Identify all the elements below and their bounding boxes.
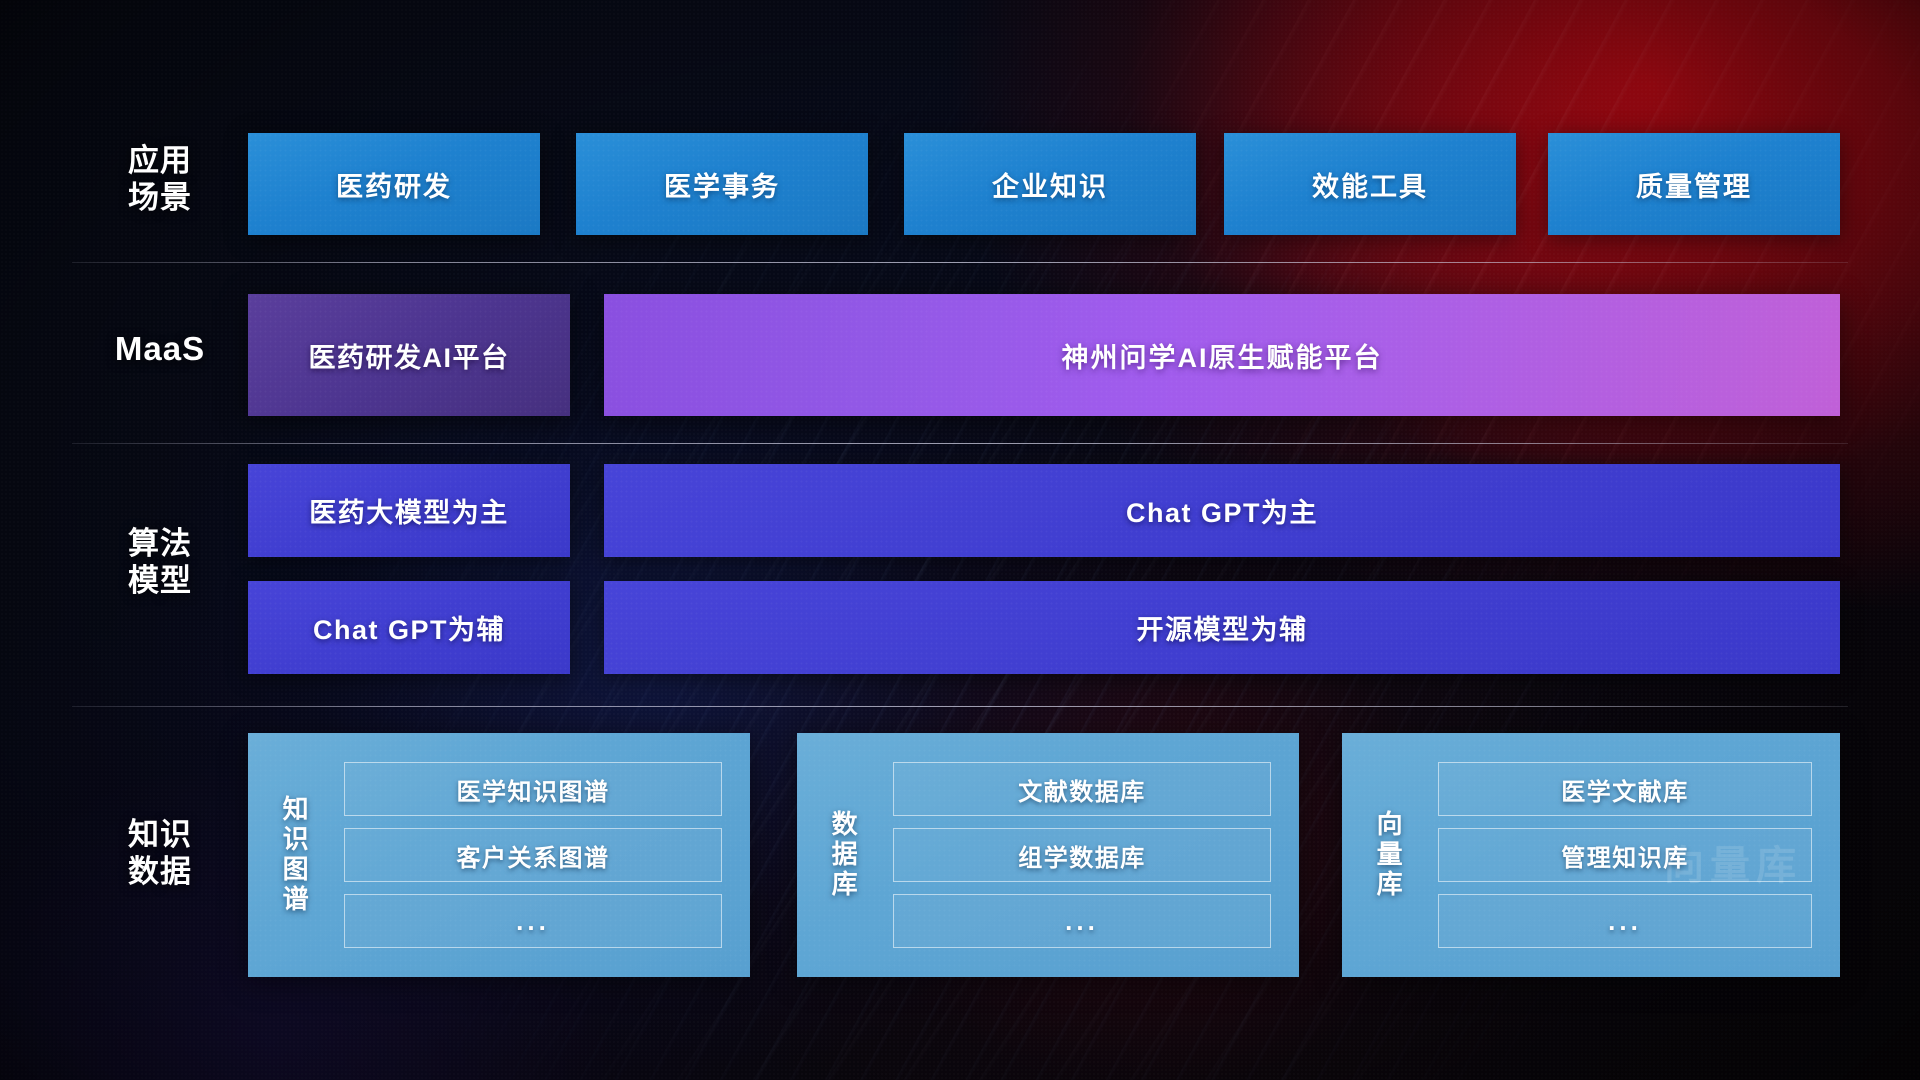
knowledge-label-line-1: 知识 <box>90 817 230 854</box>
algorithm-row-label: 算法 模型 <box>90 526 230 599</box>
application-card-quality-management[interactable]: 质量管理 <box>1548 133 1840 235</box>
maas-left-label: 医药研发AI平台 <box>309 336 510 375</box>
application-card-label: 医学事务 <box>664 165 780 204</box>
knowledge-group-database[interactable]: 数据库 文献数据库 组学数据库 ... <box>797 733 1299 977</box>
algorithm-cell-label: 开源模型为辅 <box>1137 608 1308 647</box>
knowledge-item-more[interactable]: ... <box>1438 894 1812 948</box>
maas-card-pharma-ai-platform[interactable]: 医药研发AI平台 <box>248 294 570 416</box>
application-card-medical-affairs[interactable]: 医学事务 <box>576 133 868 235</box>
application-card-medicine-rd[interactable]: 医药研发 <box>248 133 540 235</box>
knowledge-row-label: 知识 数据 <box>90 817 230 890</box>
algorithm-cell-label: Chat GPT为辅 <box>313 608 505 647</box>
maas-card-shenzhou-wenxue-platform[interactable]: 神州问学AI原生赋能平台 <box>604 294 1840 416</box>
algorithm-card-chatgpt-primary[interactable]: Chat GPT为主 <box>604 464 1840 557</box>
knowledge-item-list: 文献数据库 组学数据库 ... <box>889 733 1299 977</box>
application-card-label: 医药研发 <box>336 165 452 204</box>
knowledge-item[interactable]: 管理知识库 <box>1438 828 1812 882</box>
maas-row-label: MaaS <box>90 330 230 369</box>
algorithm-card-chatgpt-secondary[interactable]: Chat GPT为辅 <box>248 581 570 674</box>
application-row-label: 应用 场景 <box>90 143 230 216</box>
slide-canvas: 应用 场景 医药研发 医学事务 企业知识 效能工具 质量管理 <box>0 0 1920 1080</box>
divider-algorithm-knowledge <box>72 706 1848 707</box>
knowledge-item[interactable]: 医学知识图谱 <box>344 762 722 816</box>
knowledge-item[interactable]: 客户关系图谱 <box>344 828 722 882</box>
application-label-line-2: 场景 <box>90 180 230 217</box>
application-row: 应用 场景 医药研发 医学事务 企业知识 效能工具 质量管理 <box>0 133 1920 235</box>
application-card-enterprise-knowledge[interactable]: 企业知识 <box>904 133 1196 235</box>
application-label-line-1: 应用 <box>90 143 230 180</box>
algorithm-label-line-2: 模型 <box>90 563 230 600</box>
knowledge-group-title: 数据库 <box>797 733 889 977</box>
knowledge-item-more[interactable]: ... <box>893 894 1271 948</box>
knowledge-group-vector-store[interactable]: 向量库 医学文献库 管理知识库 ... <box>1342 733 1840 977</box>
algorithm-cell-label: 医药大模型为主 <box>309 491 509 530</box>
maas-right-label: 神州问学AI原生赋能平台 <box>1062 336 1383 375</box>
maas-label-line-1: MaaS <box>90 330 230 369</box>
application-card-label: 企业知识 <box>992 165 1108 204</box>
knowledge-item[interactable]: 文献数据库 <box>893 762 1271 816</box>
algorithm-card-pharma-llm-primary[interactable]: 医药大模型为主 <box>248 464 570 557</box>
divider-application-maas <box>72 262 1848 263</box>
knowledge-label-line-2: 数据 <box>90 854 230 891</box>
knowledge-row: 知识 数据 知识图谱 医学知识图谱 客户关系图谱 ... 数据库 <box>0 733 1920 977</box>
application-card-efficiency-tools[interactable]: 效能工具 <box>1224 133 1516 235</box>
algorithm-card-opensource-secondary[interactable]: 开源模型为辅 <box>604 581 1840 674</box>
knowledge-item[interactable]: 医学文献库 <box>1438 762 1812 816</box>
algorithm-cell-label: Chat GPT为主 <box>1126 491 1318 530</box>
knowledge-group-title-text: 知识图谱 <box>279 795 309 915</box>
knowledge-item-list: 医学知识图谱 客户关系图谱 ... <box>340 733 750 977</box>
knowledge-group-knowledge-graph[interactable]: 知识图谱 医学知识图谱 客户关系图谱 ... <box>248 733 750 977</box>
knowledge-item-more[interactable]: ... <box>344 894 722 948</box>
knowledge-group-title-text: 数据库 <box>828 810 858 900</box>
algorithm-row: 算法 模型 医药大模型为主 Chat GPT为主 Chat GPT为辅 开源模型… <box>0 464 1920 674</box>
knowledge-group-title: 向量库 <box>1342 733 1434 977</box>
algorithm-label-line-1: 算法 <box>90 526 230 563</box>
divider-maas-algorithm <box>72 443 1848 444</box>
application-card-label: 质量管理 <box>1636 165 1752 204</box>
knowledge-group-title: 知识图谱 <box>248 733 340 977</box>
application-card-label: 效能工具 <box>1312 165 1428 204</box>
maas-row: MaaS 医药研发AI平台 神州问学AI原生赋能平台 <box>0 294 1920 416</box>
knowledge-item-list: 医学文献库 管理知识库 ... <box>1434 733 1840 977</box>
knowledge-group-title-text: 向量库 <box>1373 810 1403 900</box>
knowledge-item[interactable]: 组学数据库 <box>893 828 1271 882</box>
